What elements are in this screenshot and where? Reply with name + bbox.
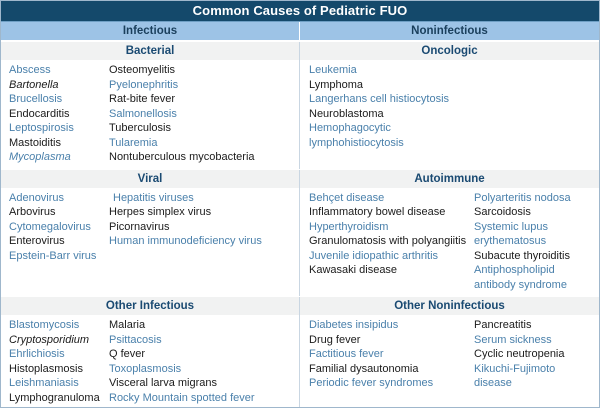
- item-column: PancreatitisSerum sicknessCyclic neutrop…: [472, 318, 599, 408]
- list-item: Kikuchi-Fujimoto disease: [474, 362, 595, 391]
- item-column: Polyarteritis nodosaSarcoidosisSystemic …: [472, 191, 599, 293]
- list-item: Kawasaki disease: [309, 263, 472, 278]
- list-item: Inflammatory bowel disease: [309, 205, 472, 220]
- list-item: Leukemia: [309, 63, 472, 78]
- list-item: Tularemia: [109, 136, 293, 151]
- list-item: Abscess: [9, 63, 106, 78]
- section-body: AbscessBartonellaBrucellosisEndocarditis…: [1, 60, 599, 169]
- page-title: Common Causes of Pediatric FUO: [1, 1, 599, 21]
- list-item: Cryptosporidium: [9, 333, 106, 348]
- list-item: Rocky Mountain spotted fever: [109, 391, 293, 406]
- list-item: Picornavirus: [109, 220, 293, 235]
- section-half-left: BlastomycosisCryptosporidiumEhrlichiosis…: [1, 315, 300, 408]
- subsection-header-row: Other InfectiousOther Noninfectious: [1, 296, 599, 315]
- list-item: Tuberculosis: [109, 121, 293, 136]
- list-item: Rat-bite fever: [109, 92, 293, 107]
- item-column: [472, 63, 599, 165]
- subsection-heading-left: Viral: [1, 170, 300, 188]
- item-column: Behçet diseaseInflammatory bowel disease…: [300, 191, 472, 293]
- section-groups: BacterialOncologicAbscessBartonellaBruce…: [1, 41, 599, 408]
- list-item: Nontuberculous mycobacteria: [109, 150, 293, 165]
- subsection-heading-left: Other Infectious: [1, 297, 300, 315]
- list-item: Osteomyelitis: [109, 63, 293, 78]
- list-item: Polyarteritis nodosa: [474, 191, 595, 206]
- category-header-noninfectious: Noninfectious: [300, 22, 599, 40]
- item-column: Diabetes insipidusDrug feverFactitious f…: [300, 318, 472, 408]
- item-column: BlastomycosisCryptosporidiumEhrlichiosis…: [1, 318, 106, 408]
- list-item: Adenovirus: [9, 191, 106, 206]
- item-column: LeukemiaLymphomaLangerhans cell histiocy…: [300, 63, 472, 165]
- list-item: Sarcoidosis: [474, 205, 595, 220]
- list-item: Ehrlichiosis: [9, 347, 106, 362]
- subsection-heading-left: Bacterial: [1, 42, 300, 60]
- list-item: Juvenile idiopathic arthritis: [309, 249, 472, 264]
- list-item: Cytomegalovirus: [9, 220, 106, 235]
- list-item: Arbovirus: [9, 205, 106, 220]
- list-item: Neuroblastoma: [309, 107, 472, 122]
- list-item: Subacute thyroiditis: [474, 249, 595, 264]
- list-item: Lymphogranuloma venereum: [9, 391, 106, 408]
- list-item: Leptospirosis: [9, 121, 106, 136]
- list-item: Antiphospholipid antibody syndrome: [474, 263, 595, 292]
- list-item: Hemophagocytic lymphohistiocytosis: [309, 121, 472, 150]
- section-half-right: Behçet diseaseInflammatory bowel disease…: [300, 188, 599, 297]
- section-body: BlastomycosisCryptosporidiumEhrlichiosis…: [1, 315, 599, 408]
- section-half-right: Diabetes insipidusDrug feverFactitious f…: [300, 315, 599, 408]
- pediatric-fuo-table: Common Causes of Pediatric FUO Infectiou…: [0, 0, 600, 408]
- list-item: Systemic lupus erythematosus: [474, 220, 595, 249]
- item-column: AdenovirusArbovirusCytomegalovirusEntero…: [1, 191, 106, 293]
- list-item: Drug fever: [309, 333, 472, 348]
- list-item: Human immunodeficiency virus: [109, 234, 293, 249]
- list-item: Familial dysautonomia: [309, 362, 472, 377]
- list-item: Visceral larva migrans: [109, 376, 293, 391]
- section-body: AdenovirusArbovirusCytomegalovirusEntero…: [1, 188, 599, 297]
- list-item: Toxoplasmosis: [109, 362, 293, 377]
- list-item: Periodic fever syndromes: [309, 376, 472, 391]
- list-item: Histoplasmosis: [9, 362, 106, 377]
- list-item: Granulomatosis with polyangiitis: [309, 234, 472, 249]
- subsection-header-row: BacterialOncologic: [1, 41, 599, 60]
- category-header-infectious: Infectious: [1, 22, 300, 40]
- section-group: ViralAutoimmuneAdenovirusArbovirusCytome…: [1, 169, 599, 297]
- list-item: Lymphoma: [309, 78, 472, 93]
- section-half-right: LeukemiaLymphomaLangerhans cell histiocy…: [300, 60, 599, 169]
- item-column: AbscessBartonellaBrucellosisEndocarditis…: [1, 63, 106, 165]
- section-group: Other InfectiousOther NoninfectiousBlast…: [1, 296, 599, 408]
- item-column: MalariaPsittacosisQ feverToxoplasmosisVi…: [106, 318, 299, 408]
- list-item: Diabetes insipidus: [309, 318, 472, 333]
- category-header-row: Infectious Noninfectious: [1, 21, 599, 41]
- subsection-heading-right: Autoimmune: [300, 170, 599, 188]
- list-item: Endocarditis: [9, 107, 106, 122]
- list-item: Pancreatitis: [474, 318, 595, 333]
- list-item: Bartonella: [9, 78, 106, 93]
- list-item: Blastomycosis: [9, 318, 106, 333]
- list-item: Cyclic neutropenia: [474, 347, 595, 362]
- list-item: Mycoplasma: [9, 150, 106, 165]
- list-item: Mastoiditis: [9, 136, 106, 151]
- list-item: Q fever: [109, 347, 293, 362]
- list-item: Factitious fever: [309, 347, 472, 362]
- list-item: Leishmaniasis: [9, 376, 106, 391]
- list-item: Hyperthyroidism: [309, 220, 472, 235]
- subsection-heading-right: Other Noninfectious: [300, 297, 599, 315]
- list-item: Enterovirus: [9, 234, 106, 249]
- list-item: Malaria: [109, 318, 293, 333]
- section-half-left: AdenovirusArbovirusCytomegalovirusEntero…: [1, 188, 300, 297]
- list-item: Herpes simplex virus: [109, 205, 293, 220]
- list-item: Behçet disease: [309, 191, 472, 206]
- subsection-heading-right: Oncologic: [300, 42, 599, 60]
- section-group: BacterialOncologicAbscessBartonellaBruce…: [1, 41, 599, 169]
- list-item: Pyelonephritis: [109, 78, 293, 93]
- list-item: Psittacosis: [109, 333, 293, 348]
- list-item: Hepatitis viruses: [109, 191, 293, 206]
- list-item: Epstein-Barr virus: [9, 249, 106, 264]
- item-column: Hepatitis virusesHerpes simplex virusPic…: [106, 191, 299, 293]
- list-item: Serum sickness: [474, 333, 595, 348]
- item-column: OsteomyelitisPyelonephritisRat-bite feve…: [106, 63, 299, 165]
- subsection-header-row: ViralAutoimmune: [1, 169, 599, 188]
- list-item: Brucellosis: [9, 92, 106, 107]
- section-half-left: AbscessBartonellaBrucellosisEndocarditis…: [1, 60, 300, 169]
- list-item: Salmonellosis: [109, 107, 293, 122]
- list-item: Langerhans cell histiocytosis: [309, 92, 472, 107]
